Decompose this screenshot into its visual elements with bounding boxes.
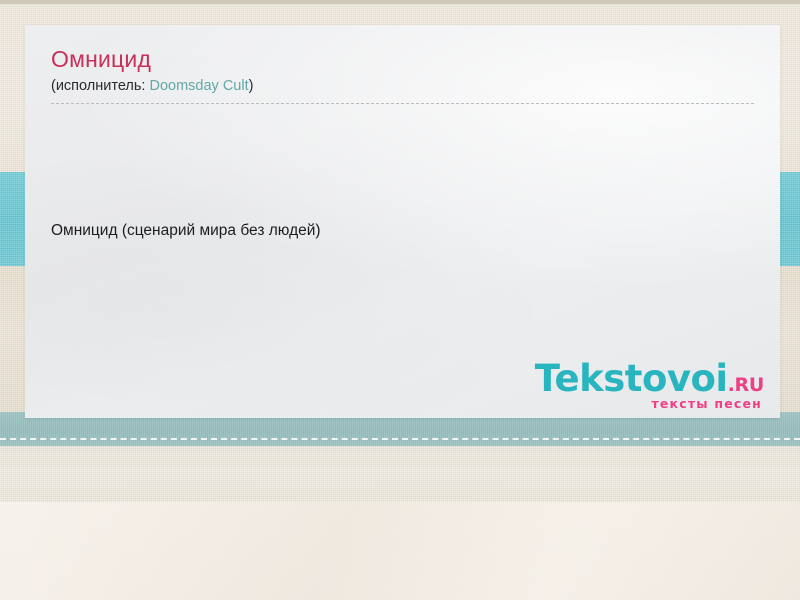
background-band-paper-bottom	[0, 502, 800, 600]
artist-link[interactable]: Doomsday Cult	[149, 78, 248, 94]
artist-line: (исполнитель: Doomsday Cult)	[51, 77, 754, 96]
artist-suffix-label: )	[249, 78, 254, 94]
page-background: Омницид (исполнитель: Doomsday Cult) Омн…	[0, 0, 800, 600]
lyrics-card: Омницид (исполнитель: Doomsday Cult) Омн…	[25, 25, 780, 418]
page-title: Омницид	[51, 47, 754, 73]
site-logo-watermark: Tekstovoi.RU тексты песен	[535, 360, 764, 411]
site-logo-tld: .RU	[728, 376, 764, 395]
site-logo-name: Tekstovoi	[535, 360, 728, 397]
artist-prefix-label: (исполнитель:	[51, 78, 149, 94]
lyrics-stanza: Омницид (сценарий мира без людей)	[51, 168, 754, 293]
background-band-beige-lower	[0, 446, 800, 502]
divider	[51, 103, 754, 104]
lyric-line: Омницид (сценарий мира без людей)	[51, 218, 754, 243]
